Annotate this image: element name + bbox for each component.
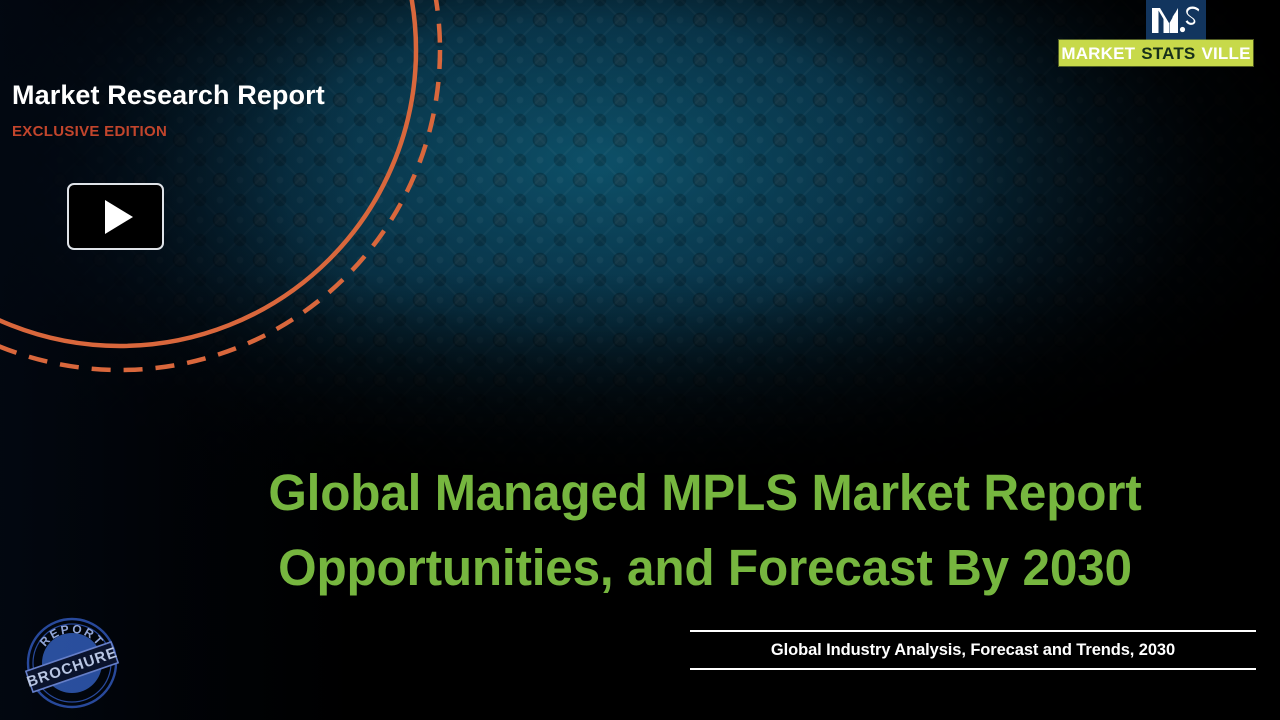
report-title: Global Managed MPLS Market Report Opport… — [167, 455, 1244, 606]
report-cover-slide: Market Research Report EXCLUSIVE EDITION… — [0, 0, 1280, 720]
logo-word-ville: VILLE — [1201, 45, 1250, 62]
play-icon — [105, 200, 133, 234]
arc-dashed-icon — [0, 0, 440, 370]
report-brochure-stamp[interactable]: REPORT BROCHURE — [22, 613, 122, 713]
logo-word-market: MARKET — [1061, 45, 1135, 62]
report-title-line-2: Opportunities, and Forecast By 2030 — [167, 530, 1244, 605]
logo-mark-icon — [1146, 0, 1206, 40]
page-title: Market Research Report — [12, 82, 325, 109]
logo-wordmark: MARKET STATS VILLE — [1059, 40, 1253, 66]
arc-solid-icon — [0, 0, 416, 346]
subtitle-block: Global Industry Analysis, Forecast and T… — [690, 630, 1256, 670]
subtitle-text: Global Industry Analysis, Forecast and T… — [690, 632, 1256, 668]
subtitle-rule-bottom — [690, 668, 1256, 670]
edition-label: EXCLUSIVE EDITION — [12, 123, 325, 140]
logo-word-stats: STATS — [1141, 45, 1195, 62]
report-title-line-1: Global Managed MPLS Market Report — [167, 455, 1244, 530]
play-button[interactable] — [67, 183, 164, 250]
header-block: Market Research Report EXCLUSIVE EDITION — [12, 82, 325, 140]
